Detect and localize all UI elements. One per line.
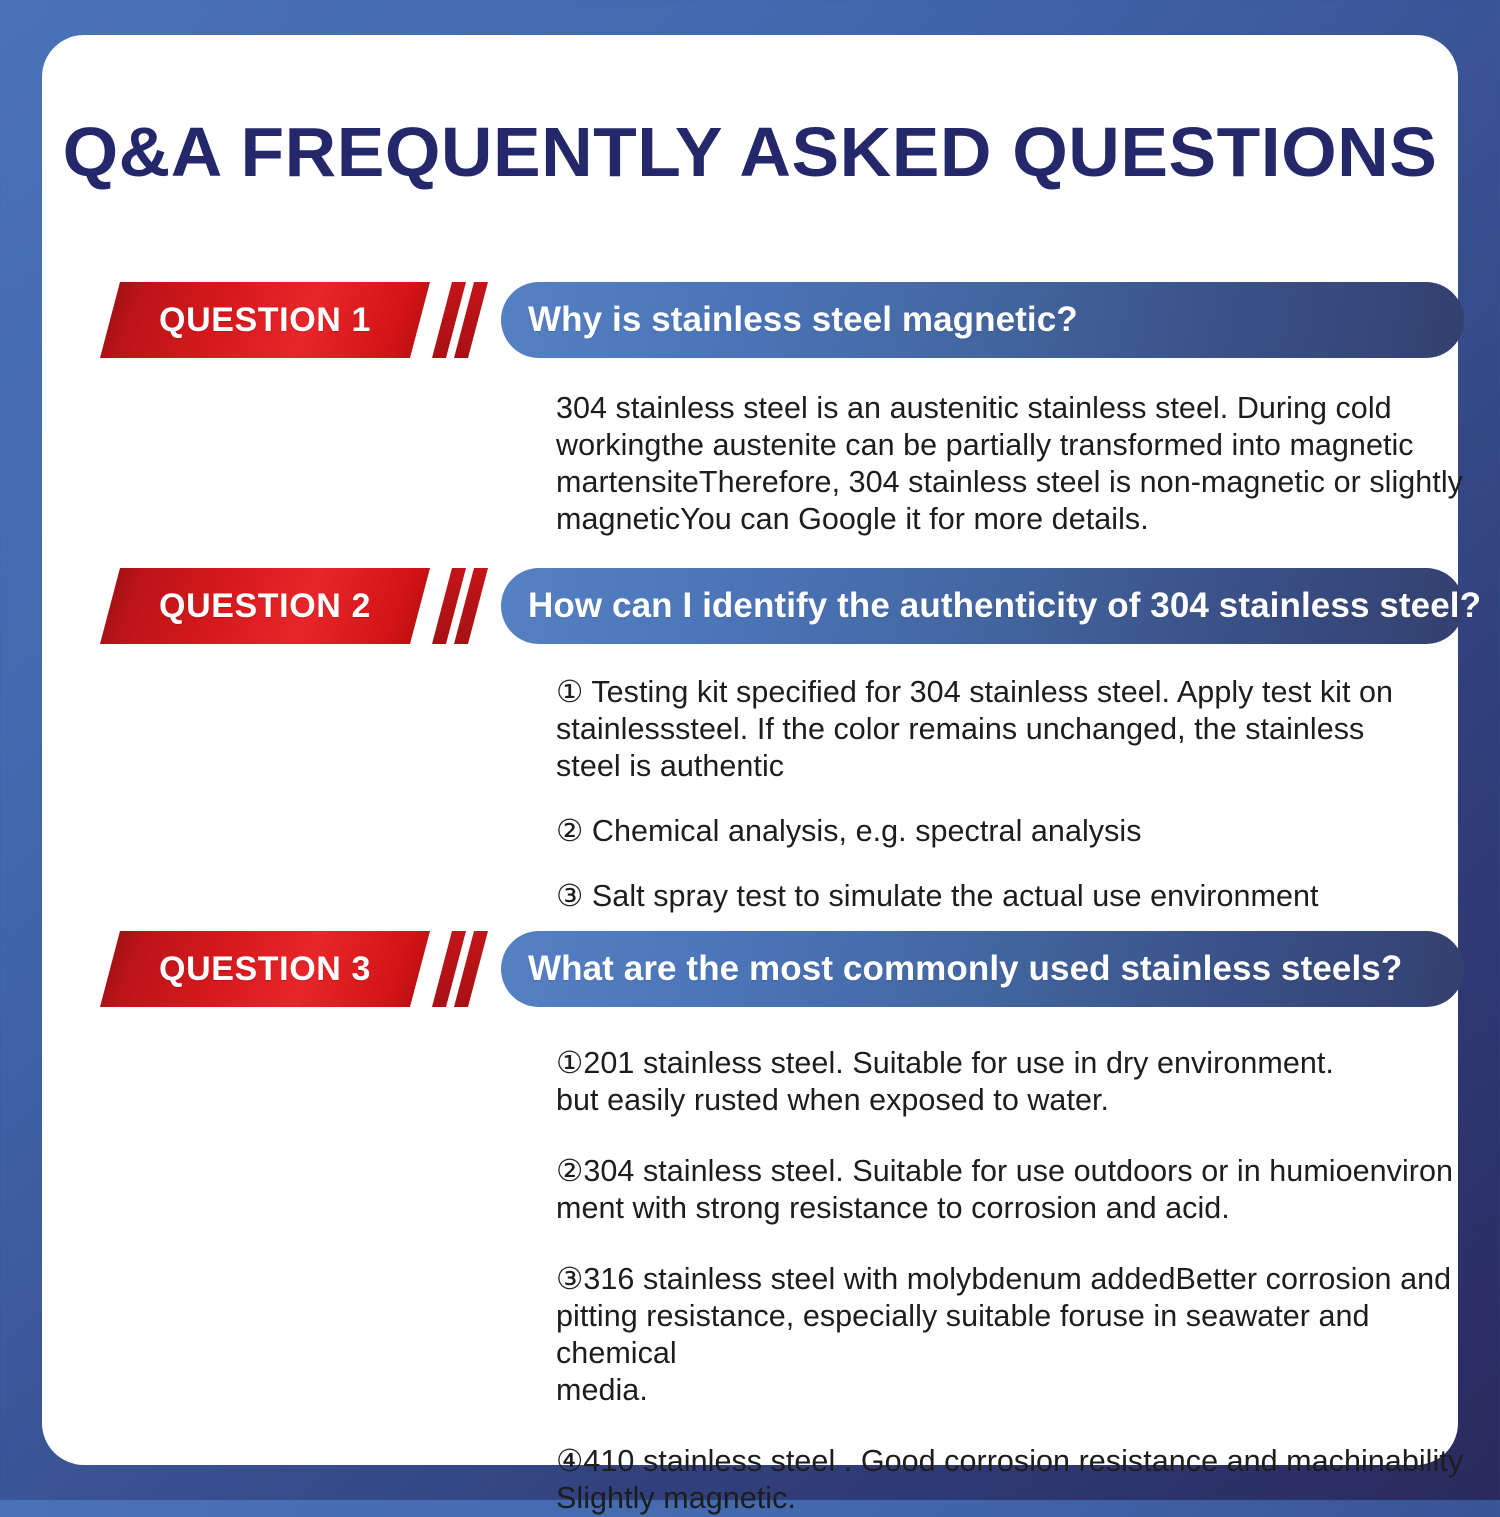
answer-paragraph: 304 stainless steel is an austenitic sta… xyxy=(556,390,1481,538)
question-badge-label: QUESTION 2 xyxy=(159,587,371,626)
question-header-1: QUESTION 1 Why is stainless steel magnet… xyxy=(42,282,1458,358)
question-title-bar-3[interactable]: What are the most commonly used stainles… xyxy=(501,931,1464,1007)
answer-item: ③ Salt spray test to simulate the actual… xyxy=(556,878,1481,915)
page-title: Q&A FREQUENTLY ASKED QUESTIONS xyxy=(28,117,1472,187)
question-title-bar-1[interactable]: Why is stainless steel magnetic? xyxy=(501,282,1464,358)
question-title-label: How can I identify the authenticity of 3… xyxy=(528,586,1481,626)
question-block-3: QUESTION 3 What are the most commonly us… xyxy=(42,931,1458,1517)
question-badge-2[interactable]: QUESTION 2 xyxy=(100,568,430,644)
answer-item: ① Testing kit specified for 304 stainles… xyxy=(556,674,1481,785)
question-block-1: QUESTION 1 Why is stainless steel magnet… xyxy=(42,282,1458,538)
question-header-3: QUESTION 3 What are the most commonly us… xyxy=(42,931,1458,1007)
answer-list-2: ① Testing kit specified for 304 stainles… xyxy=(556,674,1481,915)
answer-item: ② Chemical analysis, e.g. spectral analy… xyxy=(556,813,1481,850)
question-badge-label: QUESTION 1 xyxy=(159,301,371,340)
faq-card: Q&A FREQUENTLY ASKED QUESTIONS QUESTION … xyxy=(42,35,1458,1465)
question-title-bar-2[interactable]: How can I identify the authenticity of 3… xyxy=(501,568,1464,644)
question-title-label: Why is stainless steel magnetic? xyxy=(528,300,1078,340)
answer-item: ④410 stainless steel . Good corrosion re… xyxy=(556,1443,1481,1517)
answer-item: ③316 stainless steel with molybdenum add… xyxy=(556,1261,1481,1409)
question-badge-1[interactable]: QUESTION 1 xyxy=(100,282,430,358)
answer-item: ②304 stainless steel. Suitable for use o… xyxy=(556,1153,1481,1227)
question-title-label: What are the most commonly used stainles… xyxy=(528,949,1402,989)
answer-list-3: ①201 stainless steel. Suitable for use i… xyxy=(556,1045,1481,1517)
question-header-2: QUESTION 2 How can I identify the authen… xyxy=(42,568,1458,644)
answer-item: ①201 stainless steel. Suitable for use i… xyxy=(556,1045,1481,1119)
question-badge-label: QUESTION 3 xyxy=(159,950,371,989)
question-badge-3[interactable]: QUESTION 3 xyxy=(100,931,430,1007)
question-block-2: QUESTION 2 How can I identify the authen… xyxy=(42,568,1458,915)
answer-list-1: 304 stainless steel is an austenitic sta… xyxy=(556,390,1481,538)
